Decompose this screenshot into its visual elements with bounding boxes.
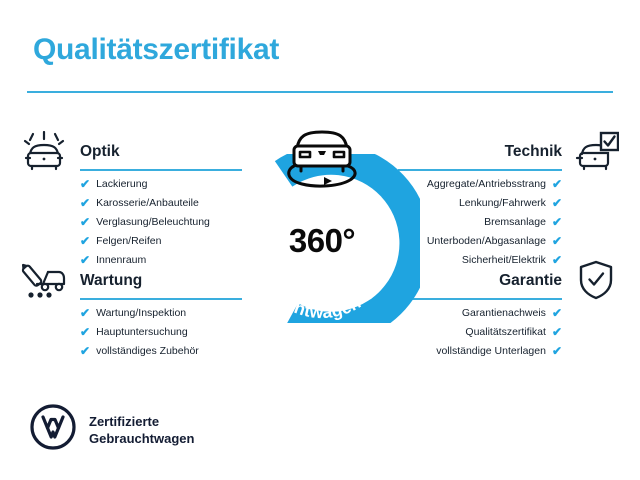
- list-item: ✔Verglasung/Beleuchtung: [80, 214, 235, 230]
- list-item: ✔Felgen/Reifen: [80, 233, 235, 249]
- badge-center-label: 360°: [224, 222, 420, 260]
- shield-check-icon: [572, 259, 620, 301]
- check-icon: ✔: [552, 216, 562, 228]
- section-garantie-list: ✔Garantienachweis ✔Qualitätszertifikat ✔…: [405, 305, 562, 359]
- check-icon: ✔: [80, 326, 90, 338]
- section-optik-title: Optik: [80, 143, 120, 161]
- check-icon: ✔: [80, 307, 90, 319]
- section-garantie-divider: [398, 298, 562, 300]
- car-checkbox-icon: [572, 130, 620, 172]
- list-item: ✔Unterboden/Abgasanlage: [405, 233, 562, 249]
- list-item: ✔Wartung/Inspektion: [80, 305, 235, 321]
- section-garantie-title: Garantie: [499, 272, 562, 290]
- list-item: ✔Garantienachweis: [405, 305, 562, 321]
- check-icon: ✔: [552, 307, 562, 319]
- volkswagen-logo: [30, 404, 76, 455]
- section-technik-list: ✔Aggregate/Antriebsstrang ✔Lenkung/Fahrw…: [405, 176, 562, 268]
- list-item: ✔Hauptuntersuchung: [80, 324, 235, 340]
- list-item: ✔Bremsanlage: [405, 214, 562, 230]
- check-icon: ✔: [80, 235, 90, 247]
- check-icon: ✔: [80, 178, 90, 190]
- check-icon: ✔: [552, 197, 562, 209]
- car-shine-icon: [20, 130, 68, 172]
- badge-360-gebrauchtwagen-check: Gebrauchtwagen-Check 360°: [224, 118, 420, 323]
- check-icon: ✔: [80, 197, 90, 209]
- list-item: ✔vollständige Unterlagen: [405, 343, 562, 359]
- section-garantie: Garantie ✔Garantienachweis ✔Qualitätszer…: [405, 259, 620, 362]
- footer-brand-text: Zertifizierte Gebrauchtwagen: [89, 413, 194, 447]
- check-icon: ✔: [552, 178, 562, 190]
- section-technik-header: Technik: [405, 130, 620, 176]
- check-icon: ✔: [552, 235, 562, 247]
- section-technik: Technik ✔Aggregate/Antriebsstrang ✔Lenku…: [405, 130, 620, 271]
- section-technik-divider: [398, 169, 562, 171]
- footer-brand: Zertifizierte Gebrauchtwagen: [30, 404, 194, 455]
- list-item: ✔Karosserie/Anbauteile: [80, 195, 235, 211]
- check-icon: ✔: [80, 345, 90, 357]
- section-wartung-divider: [80, 298, 242, 300]
- section-wartung-header: Wartung: [20, 259, 235, 305]
- section-optik-list: ✔Lackierung ✔Karosserie/Anbauteile ✔Verg…: [80, 176, 235, 268]
- list-item: ✔Lackierung: [80, 176, 235, 192]
- section-technik-title: Technik: [505, 143, 562, 161]
- car-service-tool-icon: [20, 259, 68, 301]
- list-item: ✔Qualitätszertifikat: [405, 324, 562, 340]
- list-item: ✔vollständiges Zubehör: [80, 343, 235, 359]
- qualitaetszertifikat-page: Qualitätszertifikat: [0, 0, 640, 480]
- section-optik-divider: [80, 169, 242, 171]
- section-garantie-header: Garantie: [405, 259, 620, 305]
- check-icon: ✔: [80, 216, 90, 228]
- section-wartung-list: ✔Wartung/Inspektion ✔Hauptuntersuchung ✔…: [80, 305, 235, 359]
- page-title: Qualitätszertifikat: [33, 33, 279, 67]
- section-wartung-title: Wartung: [80, 272, 142, 290]
- title-divider: [27, 91, 613, 93]
- list-item: ✔Aggregate/Antriebsstrang: [405, 176, 562, 192]
- check-icon: ✔: [552, 345, 562, 357]
- section-wartung: Wartung ✔Wartung/Inspektion ✔Hauptunters…: [20, 259, 235, 362]
- car-rotate-icon: [280, 118, 364, 201]
- section-optik: Optik ✔Lackierung ✔Karosserie/Anbauteile…: [20, 130, 235, 271]
- check-icon: ✔: [552, 326, 562, 338]
- section-optik-header: Optik: [20, 130, 235, 176]
- list-item: ✔Lenkung/Fahrwerk: [405, 195, 562, 211]
